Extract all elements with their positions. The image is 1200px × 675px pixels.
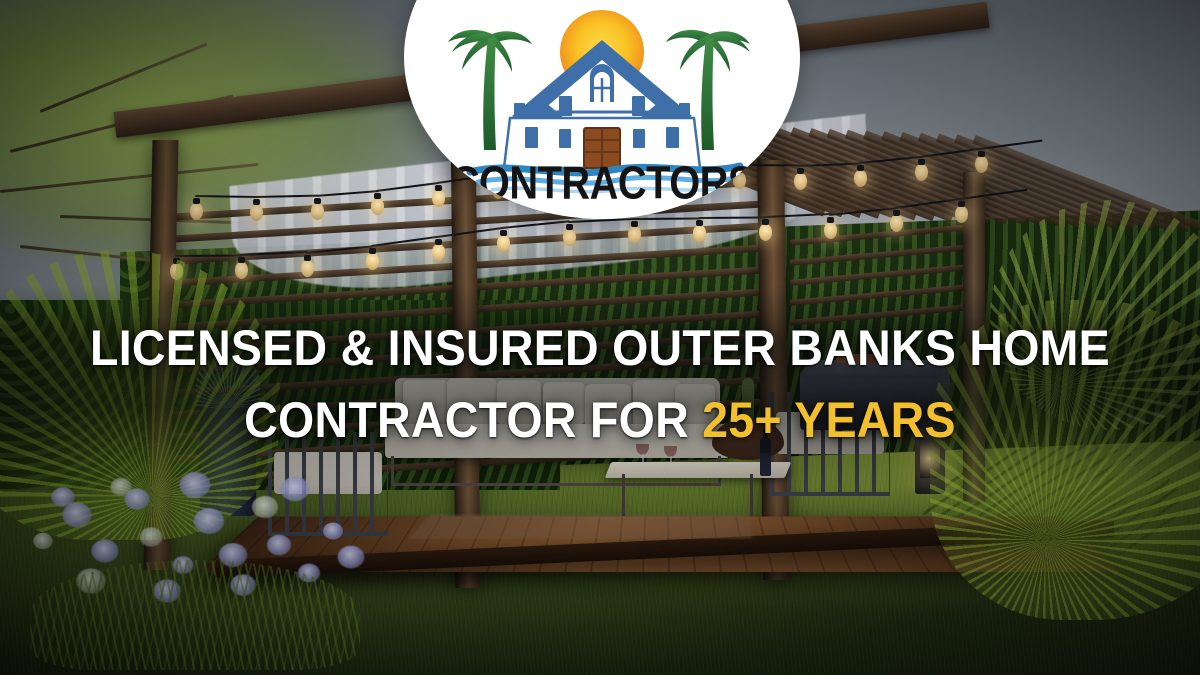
- flower-bloom: [252, 496, 278, 518]
- flower-bloom: [62, 503, 91, 528]
- light-bulb: [854, 170, 867, 187]
- ornamental-grass: [30, 560, 360, 670]
- light-bulb: [497, 235, 510, 252]
- light-wire: [437, 227, 505, 238]
- flower-bloom: [267, 535, 291, 555]
- light-bulb: [235, 262, 248, 279]
- flower-bloom: [323, 523, 343, 540]
- light-bulb: [628, 226, 641, 243]
- light-bulb: [190, 203, 203, 220]
- light-wire: [960, 189, 1028, 200]
- light-bulb: [915, 164, 928, 181]
- light-wire: [306, 245, 374, 254]
- headline: LICENSED & INSURED OUTER BANKS HOME CONT…: [42, 312, 1158, 456]
- flower-bloom: [194, 508, 224, 534]
- flower-bloom: [140, 527, 163, 546]
- hero-banner: LICENSED & INSURED OUTER BANKS HOME CONT…: [0, 0, 1200, 675]
- flower-bloom: [110, 478, 131, 496]
- light-wire: [894, 198, 962, 209]
- light-bulb: [824, 222, 837, 239]
- headline-line-2-prefix: CONTRACTOR FOR: [244, 392, 702, 448]
- light-bulb: [371, 198, 384, 215]
- headline-line-1: LICENSED & INSURED OUTER BANKS HOME: [42, 312, 1158, 384]
- light-bulb: [432, 244, 445, 261]
- light-wire: [859, 156, 922, 164]
- light-wire: [175, 254, 243, 257]
- logo-content: ISLAND CONTRACTORS: [404, 0, 800, 219]
- flower-bloom: [51, 487, 74, 507]
- flower-bloom: [91, 540, 118, 563]
- logo-badge[interactable]: ISLAND CONTRACTORS: [404, 0, 800, 219]
- headline-line-2: CONTRACTOR FOR 25+ YEARS: [42, 384, 1158, 456]
- flower-bloom: [180, 472, 211, 498]
- light-bulb: [563, 229, 576, 246]
- table-leg: [750, 474, 753, 516]
- light-bulb: [890, 215, 903, 232]
- light-bulb: [301, 260, 314, 277]
- headline-accent-years: 25+ YEARS: [702, 392, 956, 448]
- flower-bloom: [281, 477, 310, 501]
- table-leg: [622, 474, 625, 516]
- light-wire: [799, 162, 862, 167]
- light-wire: [240, 251, 308, 256]
- flower-bloom: [338, 546, 365, 569]
- light-wire: [980, 139, 1043, 150]
- light-bulb: [250, 204, 263, 221]
- light-wire: [919, 148, 982, 159]
- light-wire: [371, 236, 439, 247]
- light-bulb: [693, 225, 706, 242]
- logo-bottom-text: CONTRACTORS: [450, 157, 753, 210]
- light-bulb: [955, 206, 968, 223]
- light-bulb: [759, 224, 772, 241]
- light-bulb: [975, 156, 988, 173]
- light-bulb: [366, 253, 379, 270]
- light-wire: [255, 195, 318, 198]
- flower-bloom: [33, 533, 53, 550]
- light-wire: [829, 207, 897, 216]
- light-wire: [316, 190, 379, 197]
- light-bulb: [311, 203, 324, 220]
- light-wire: [195, 195, 258, 198]
- outdoor-rug: [409, 514, 752, 538]
- light-wire: [502, 220, 570, 229]
